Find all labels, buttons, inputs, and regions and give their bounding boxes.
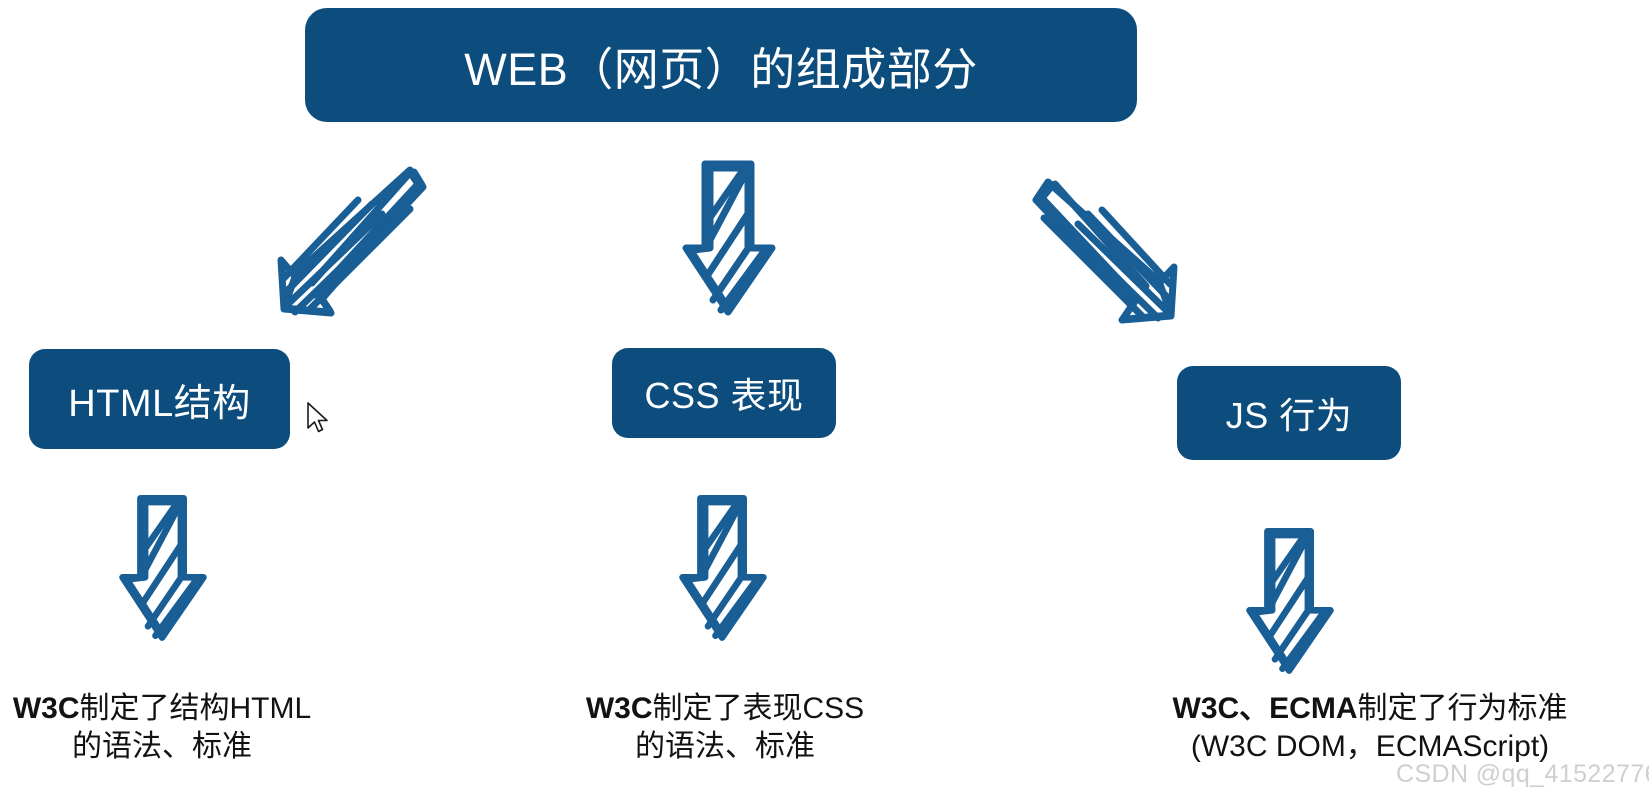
css-caption-rest: 制定了表现CSS (652, 692, 864, 725)
html-caption-bold: W3C (13, 692, 80, 725)
html-caption-rest: 制定了结构HTML (80, 692, 312, 725)
csdn-watermark: CSDN @qq_41522776 (1396, 760, 1649, 789)
arrow-html-to-caption-icon (113, 487, 213, 647)
html-caption: W3C制定了结构HTML 的语法、标准 (0, 690, 342, 767)
css-caption-line1: W3C制定了表现CSS (545, 690, 905, 728)
js-caption: W3C、ECMA制定了行为标准 (W3C DOM，ECMAScript) (1090, 690, 1649, 767)
title-box-label: WEB（网页）的组成部分 (464, 33, 978, 98)
css-caption: W3C制定了表现CSS 的语法、标准 (545, 690, 905, 767)
arrow-css-to-caption-icon (673, 487, 773, 647)
html-caption-line2: 的语法、标准 (0, 728, 342, 766)
js-caption-bold: W3C、ECMA (1173, 692, 1358, 725)
node-css-box: CSS 表现 (612, 348, 836, 438)
node-js-box: JS 行为 (1177, 366, 1401, 460)
js-caption-rest: 制定了行为标准 (1358, 692, 1568, 725)
node-css-label: CSS 表现 (644, 367, 803, 419)
diagram-canvas: WEB（网页）的组成部分 (0, 0, 1649, 811)
arrow-title-to-css-icon (677, 152, 781, 322)
js-caption-line1: W3C、ECMA制定了行为标准 (1090, 690, 1649, 728)
mouse-cursor-icon (306, 401, 332, 440)
node-js-label: JS 行为 (1226, 387, 1353, 439)
html-caption-line1: W3C制定了结构HTML (0, 690, 342, 728)
title-box: WEB（网页）的组成部分 (305, 8, 1137, 122)
node-html-box: HTML结构 (29, 349, 290, 449)
node-html-label: HTML结构 (68, 372, 250, 427)
arrow-js-to-caption-icon (1240, 520, 1340, 680)
arrow-title-to-html-icon (262, 152, 437, 327)
css-caption-bold: W3C (586, 692, 653, 725)
arrow-title-to-js-icon (1026, 160, 1191, 330)
css-caption-line2: 的语法、标准 (545, 728, 905, 766)
